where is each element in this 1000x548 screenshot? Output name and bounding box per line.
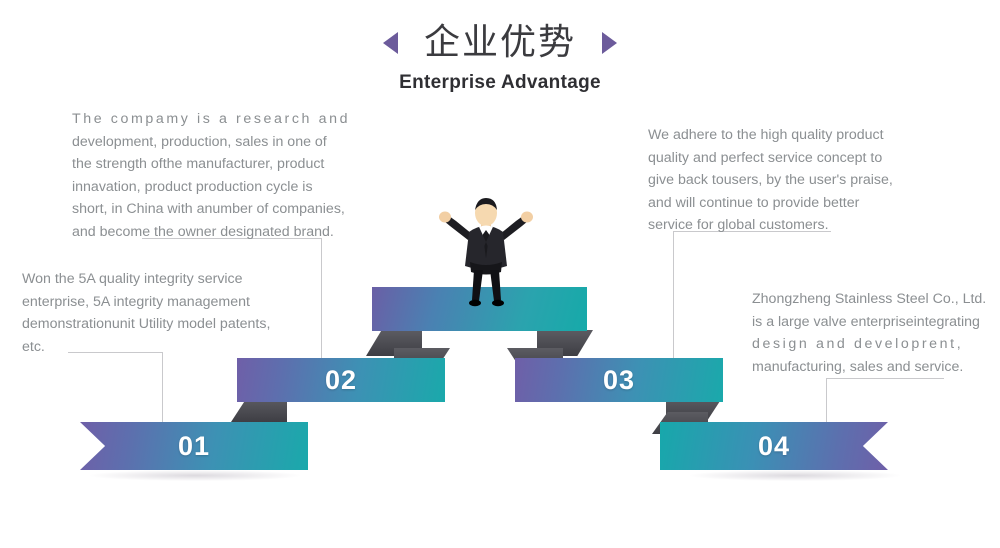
title-row: 企业优势 [0,22,1000,63]
text-line: and will continue to provide better [648,192,914,215]
text-line: service for global customers. [648,214,914,237]
banner-02-number: 02 [325,365,357,396]
triangle-right-icon [602,32,617,54]
text-block-03: We adhere to the high quality product qu… [648,124,914,237]
banner-01-shadow [90,470,300,481]
text-line: manufacturing, sales and service. [752,356,992,379]
text-line: is a large valve enterpriseintegrating [752,311,992,334]
title-english: Enterprise Advantage [0,72,1000,94]
connector-line-block1-v [321,238,322,358]
connector-line-block3-v [673,231,674,358]
banner-04-shadow [690,470,900,481]
connector-line-block4-v [826,378,827,424]
text-line: the strength ofthe manufacturer, product [72,153,354,176]
text-block-04: Zhongzheng Stainless Steel Co., Ltd. is … [752,288,992,378]
text-line: quality and perfect service concept to [648,147,914,170]
text-line: Won the 5A quality integrity service [22,268,290,291]
text-line: design and developrent, [752,333,992,356]
text-line: give back tousers, by the user's praise, [648,169,914,192]
triangle-left-icon [383,32,398,54]
text-line: The compamy is a research and [72,108,354,131]
text-line: demonstrationunit Utility model patents, [22,313,290,336]
text-line: etc. [22,336,290,359]
text-line: short, in China with anumber of companie… [72,198,354,221]
text-line: and become the owner designated brand. [72,221,354,244]
banner-03[interactable]: 03 [515,358,723,402]
connector-line-block2-v [162,352,163,424]
banner-01-number: 01 [178,431,210,462]
text-line: enterprise, 5A integrity management [22,291,290,314]
banner-03-number: 03 [603,365,635,396]
text-line: Zhongzheng Stainless Steel Co., Ltd. [752,288,992,311]
text-block-01: The compamy is a research and developmen… [72,108,354,243]
banner-04[interactable]: 04 [660,422,888,470]
text-line: development, production, sales in one of [72,131,354,154]
page-title: 企业优势 Enterprise Advantage [0,22,1000,94]
connector-line-block4-h [826,378,944,379]
banner-04-number: 04 [758,431,790,462]
text-block-02: Won the 5A quality integrity service ent… [22,268,290,358]
text-line: innavation, product production cycle is [72,176,354,199]
text-line: We adhere to the high quality product [648,124,914,147]
banner-02[interactable]: 02 [237,358,445,402]
slide-canvas: 企业优势 Enterprise Advantage The compamy is… [0,0,1000,548]
businessman-figure [432,196,540,312]
banner-01[interactable]: 01 [80,422,308,470]
title-chinese: 企业优势 [424,22,576,63]
